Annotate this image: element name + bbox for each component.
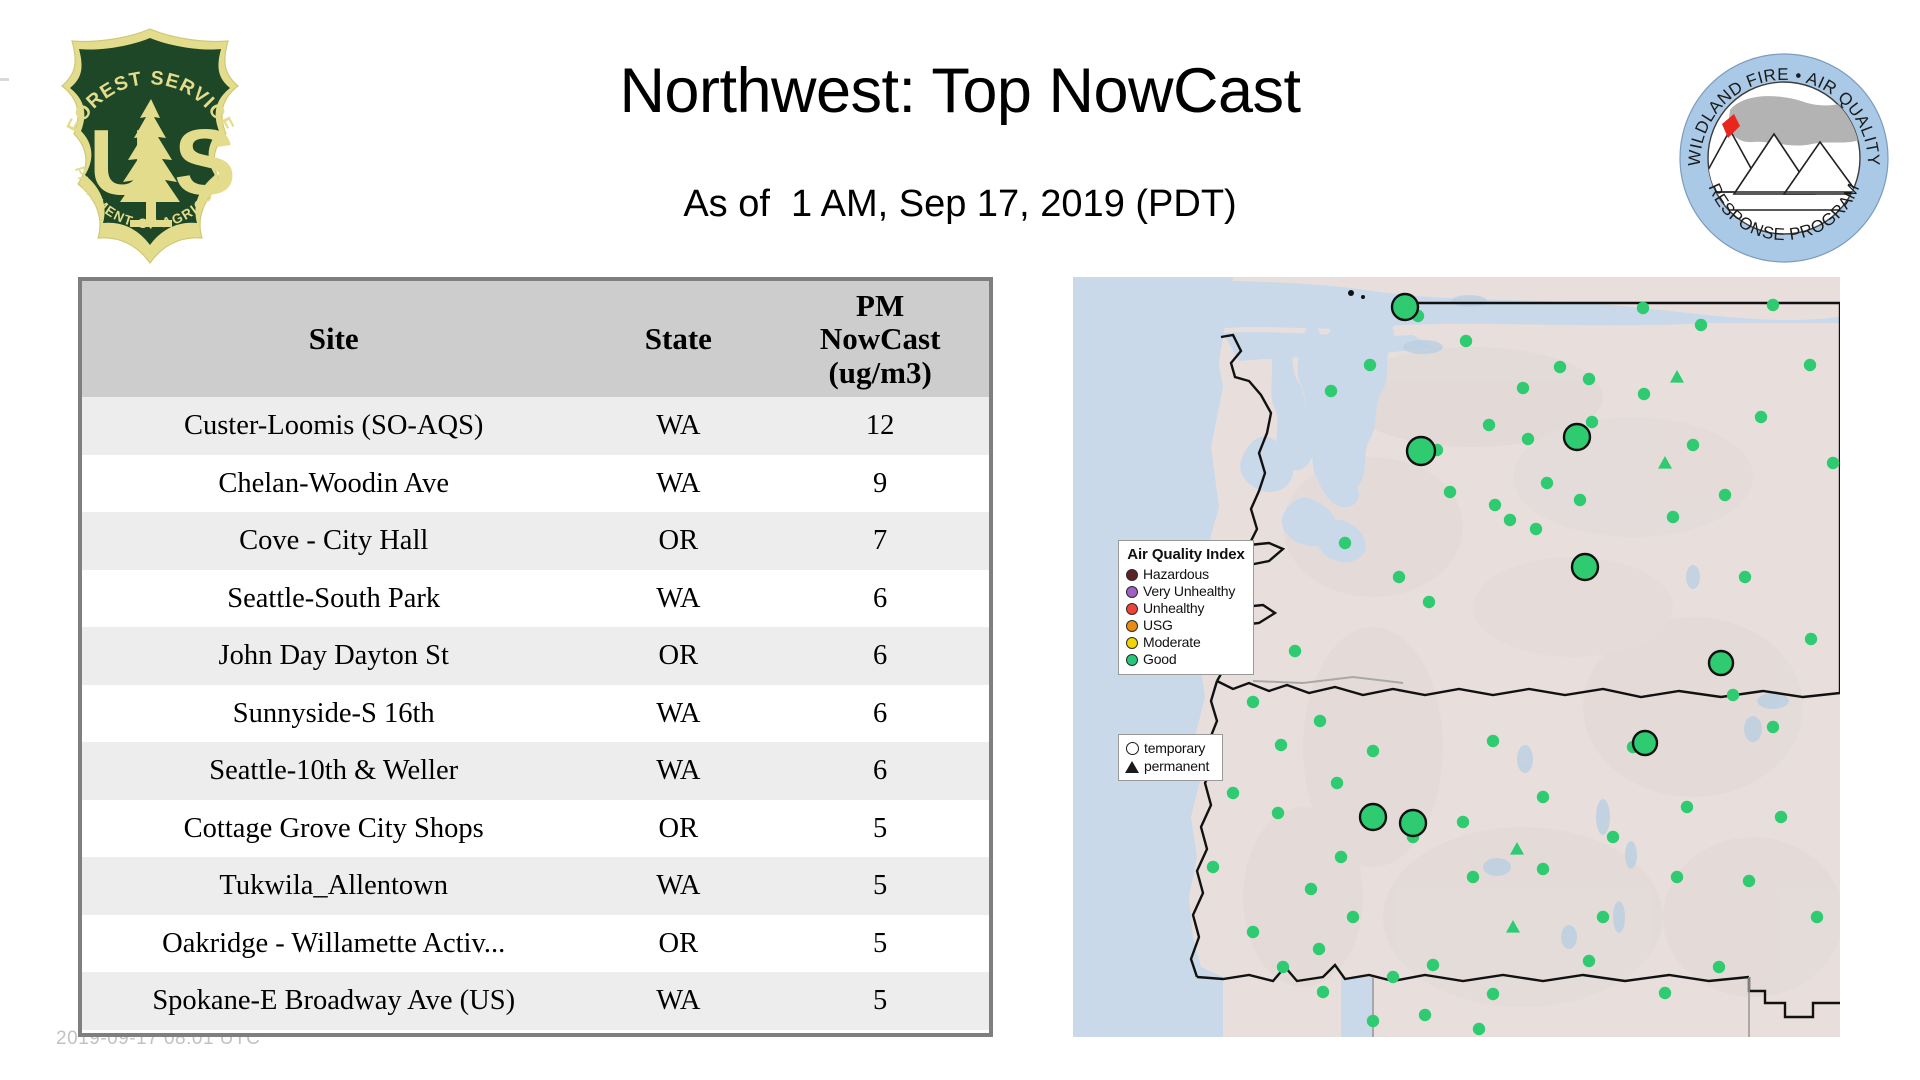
monitor-dot[interactable] bbox=[1207, 861, 1219, 873]
cell-state: WA bbox=[585, 857, 771, 915]
legend-label-temporary: temporary bbox=[1144, 740, 1205, 756]
monitor-dot[interactable] bbox=[1767, 721, 1779, 733]
monitor-dot[interactable] bbox=[1367, 1015, 1379, 1027]
top-nowcast-site-marker[interactable] bbox=[1392, 294, 1418, 320]
legend-item-label: Very Unhealthy bbox=[1143, 583, 1235, 600]
monitor-dot[interactable] bbox=[1687, 439, 1699, 451]
table-header-row: Site State PM NowCast (ug/m3) bbox=[82, 281, 989, 397]
monitor-dot[interactable] bbox=[1522, 433, 1534, 445]
table-row: Cottage Grove City ShopsOR5 bbox=[82, 800, 989, 858]
monitor-dot[interactable] bbox=[1473, 1023, 1485, 1035]
monitor-dot[interactable] bbox=[1289, 645, 1301, 657]
legend-swatch-icon bbox=[1126, 586, 1138, 598]
table-row: Cove - City HallOR7 bbox=[82, 512, 989, 570]
column-header-pm-line2: NowCast bbox=[775, 322, 985, 355]
monitor-dot[interactable] bbox=[1460, 335, 1472, 347]
monitor-dot[interactable] bbox=[1637, 302, 1649, 314]
monitor-dot[interactable] bbox=[1739, 571, 1751, 583]
monitor-dot[interactable] bbox=[1805, 633, 1817, 645]
monitor-dot[interactable] bbox=[1364, 359, 1376, 371]
cell-state: WA bbox=[585, 455, 771, 513]
cell-site: Chelan-Woodin Ave bbox=[82, 455, 585, 513]
monitor-dot[interactable] bbox=[1713, 961, 1725, 973]
monitor-dot[interactable] bbox=[1586, 416, 1598, 428]
column-header-state: State bbox=[585, 281, 771, 397]
table-row: Seattle-South ParkWA6 bbox=[82, 570, 989, 628]
monitor-dot[interactable] bbox=[1574, 494, 1586, 506]
monitor-dot[interactable] bbox=[1483, 419, 1495, 431]
monitor-dot[interactable] bbox=[1247, 926, 1259, 938]
monitor-dot[interactable] bbox=[1487, 988, 1499, 1000]
monitor-dot[interactable] bbox=[1367, 745, 1379, 757]
table-row: Sunnyside-S 16thWA6 bbox=[82, 685, 989, 743]
legend-item-label: USG bbox=[1143, 617, 1173, 634]
cell-state: WA bbox=[585, 570, 771, 628]
fs-letter-s: S bbox=[174, 110, 236, 214]
page-subtitle: As of 1 AM, Sep 17, 2019 (PDT) bbox=[300, 184, 1620, 226]
cell-site: Seattle-10th & Weller bbox=[82, 742, 585, 800]
top-nowcast-site-marker[interactable] bbox=[1564, 424, 1590, 450]
cell-pm-nowcast: 9 bbox=[771, 455, 989, 513]
usda-forest-service-shield-logo: FOREST SERVICE DEPARTMENT OF AGRICULTURE… bbox=[48, 22, 253, 270]
column-header-site-label: Site bbox=[309, 321, 359, 356]
monitor-dot[interactable] bbox=[1541, 477, 1553, 489]
table-row: Seattle-10th & WellerWA6 bbox=[82, 742, 989, 800]
cell-state: WA bbox=[585, 685, 771, 743]
cell-state: OR bbox=[585, 627, 771, 685]
legend-item-label: Moderate bbox=[1143, 634, 1201, 651]
monitor-dot[interactable] bbox=[1275, 739, 1287, 751]
monitor-dot[interactable] bbox=[1671, 871, 1683, 883]
monitor-dot[interactable] bbox=[1504, 514, 1516, 526]
monitor-dot[interactable] bbox=[1517, 382, 1529, 394]
monitor-dot[interactable] bbox=[1755, 411, 1767, 423]
permanent-monitor-icon bbox=[1125, 760, 1139, 773]
monitor-dot[interactable] bbox=[1804, 359, 1816, 371]
monitor-dot[interactable] bbox=[1335, 851, 1347, 863]
monitor-dot[interactable] bbox=[1607, 831, 1619, 843]
cell-state: OR bbox=[585, 512, 771, 570]
cell-state: WA bbox=[585, 742, 771, 800]
monitor-dot[interactable] bbox=[1727, 689, 1739, 701]
monitor-dot[interactable] bbox=[1247, 696, 1259, 708]
cell-pm-nowcast: 6 bbox=[771, 685, 989, 743]
monitor-dot[interactable] bbox=[1423, 596, 1435, 608]
monitor-dot[interactable] bbox=[1583, 373, 1595, 385]
slide-canvas: FOREST SERVICE DEPARTMENT OF AGRICULTURE… bbox=[0, 0, 1920, 1080]
legend-swatch-icon bbox=[1126, 603, 1138, 615]
legend-title: Air Quality Index bbox=[1126, 546, 1246, 563]
monitor-dot[interactable] bbox=[1317, 986, 1329, 998]
cell-site: Seattle-South Park bbox=[82, 570, 585, 628]
air-quality-index-legend: Air Quality Index HazardousVery Unhealth… bbox=[1118, 540, 1254, 675]
nowcast-table: Site State PM NowCast (ug/m3) Custer-Loo… bbox=[82, 281, 989, 1030]
monitor-dot[interactable] bbox=[1695, 319, 1707, 331]
cell-pm-nowcast: 5 bbox=[771, 915, 989, 973]
table-body: Custer-Loomis (SO-AQS)WA12Chelan-Woodin … bbox=[82, 397, 989, 1030]
cell-site: John Day Dayton St bbox=[82, 627, 585, 685]
top-nowcast-site-marker[interactable] bbox=[1360, 804, 1386, 830]
legend-item: USG bbox=[1126, 617, 1246, 634]
legend-label-permanent: permanent bbox=[1144, 758, 1209, 774]
column-header-site: Site bbox=[82, 281, 585, 397]
page-title: Northwest: Top NowCast bbox=[300, 58, 1620, 124]
legend-swatch-icon bbox=[1126, 620, 1138, 632]
cell-site: Spokane-E Broadway Ave (US) bbox=[82, 972, 585, 1030]
cell-site: Tukwila_Allentown bbox=[82, 857, 585, 915]
legend-item-label: Good bbox=[1143, 651, 1176, 668]
monitor-dot[interactable] bbox=[1393, 571, 1405, 583]
monitor-dot[interactable] bbox=[1827, 457, 1839, 469]
cell-site: Oakridge - Willamette Activ... bbox=[82, 915, 585, 973]
monitor-dot[interactable] bbox=[1659, 987, 1671, 999]
monitor-dot[interactable] bbox=[1667, 511, 1679, 523]
monitor-dot[interactable] bbox=[1681, 801, 1693, 813]
monitor-dot[interactable] bbox=[1444, 486, 1456, 498]
monitor-dot[interactable] bbox=[1347, 911, 1359, 923]
column-header-state-label: State bbox=[645, 321, 712, 356]
top-nowcast-site-marker[interactable] bbox=[1407, 437, 1435, 465]
legend-swatch-icon bbox=[1126, 637, 1138, 649]
cell-site: Sunnyside-S 16th bbox=[82, 685, 585, 743]
monitor-dot[interactable] bbox=[1427, 959, 1439, 971]
cell-pm-nowcast: 5 bbox=[771, 857, 989, 915]
legend-item-label: Hazardous bbox=[1143, 566, 1209, 583]
legend-item: Very Unhealthy bbox=[1126, 583, 1246, 600]
table-row: Oakridge - Willamette Activ...OR5 bbox=[82, 915, 989, 973]
cell-state: OR bbox=[585, 915, 771, 973]
cell-state: WA bbox=[585, 972, 771, 1030]
legend-item-label: Unhealthy bbox=[1143, 600, 1204, 617]
table-row: Chelan-Woodin AveWA9 bbox=[82, 455, 989, 513]
monitor-dot[interactable] bbox=[1638, 388, 1650, 400]
temporary-monitor-icon bbox=[1125, 742, 1139, 755]
wildland-fire-air-quality-response-program-logo: WILDLAND FIRE • AIR QUALITY RESPONSE PRO… bbox=[1678, 52, 1890, 264]
monitor-dot[interactable] bbox=[1767, 299, 1779, 311]
legend-item: Unhealthy bbox=[1126, 600, 1246, 617]
legend-swatch-icon bbox=[1126, 654, 1138, 666]
table-row: Custer-Loomis (SO-AQS)WA12 bbox=[82, 397, 989, 455]
monitor-dot[interactable] bbox=[1305, 883, 1317, 895]
cell-pm-nowcast: 5 bbox=[771, 972, 989, 1030]
column-header-pm-line3: (ug/m3) bbox=[775, 356, 985, 389]
monitor-dot[interactable] bbox=[1339, 537, 1351, 549]
nowcast-table-container: Site State PM NowCast (ug/m3) Custer-Loo… bbox=[78, 277, 993, 1037]
top-nowcast-site-marker[interactable] bbox=[1572, 554, 1598, 580]
monitor-dot[interactable] bbox=[1227, 787, 1239, 799]
monitor-dot[interactable] bbox=[1489, 499, 1501, 511]
legend-item: Moderate bbox=[1126, 634, 1246, 651]
cell-pm-nowcast: 7 bbox=[771, 512, 989, 570]
top-nowcast-site-marker[interactable] bbox=[1709, 651, 1733, 675]
monitor-dot[interactable] bbox=[1272, 807, 1284, 819]
cell-pm-nowcast: 6 bbox=[771, 570, 989, 628]
legend-item: Hazardous bbox=[1126, 566, 1246, 583]
legend-rows: HazardousVery UnhealthyUnhealthyUSGModer… bbox=[1126, 566, 1246, 668]
monitor-dot[interactable] bbox=[1554, 361, 1566, 373]
cell-pm-nowcast: 5 bbox=[771, 800, 989, 858]
table-row: John Day Dayton StOR6 bbox=[82, 627, 989, 685]
monitor-dot[interactable] bbox=[1325, 385, 1337, 397]
monitor-dot[interactable] bbox=[1331, 777, 1343, 789]
monitor-dot[interactable] bbox=[1457, 816, 1469, 828]
column-header-pm-nowcast: PM NowCast (ug/m3) bbox=[771, 281, 989, 397]
legend-row-temporary: temporary bbox=[1125, 739, 1217, 757]
cell-pm-nowcast: 6 bbox=[771, 742, 989, 800]
monitor-dot[interactable] bbox=[1743, 875, 1755, 887]
monitor-type-legend: temporary permanent bbox=[1118, 734, 1223, 781]
column-header-pm-line1: PM bbox=[775, 289, 985, 322]
cell-state: OR bbox=[585, 800, 771, 858]
monitor-dot[interactable] bbox=[1775, 811, 1787, 823]
legend-item: Good bbox=[1126, 651, 1246, 668]
cell-site: Cottage Grove City Shops bbox=[82, 800, 585, 858]
cell-pm-nowcast: 12 bbox=[771, 397, 989, 455]
left-edge-marker bbox=[0, 78, 9, 81]
cell-pm-nowcast: 6 bbox=[771, 627, 989, 685]
cell-site: Custer-Loomis (SO-AQS) bbox=[82, 397, 585, 455]
top-nowcast-site-marker[interactable] bbox=[1400, 810, 1426, 836]
monitor-dot[interactable] bbox=[1487, 735, 1499, 747]
cell-site: Cove - City Hall bbox=[82, 512, 585, 570]
monitor-dot[interactable] bbox=[1387, 971, 1399, 983]
monitor-dot[interactable] bbox=[1811, 911, 1823, 923]
monitor-dot[interactable] bbox=[1314, 715, 1326, 727]
monitor-dot[interactable] bbox=[1537, 863, 1549, 875]
monitor-dot[interactable] bbox=[1419, 1009, 1431, 1021]
monitor-dot[interactable] bbox=[1719, 489, 1731, 501]
table-row: Tukwila_AllentownWA5 bbox=[82, 857, 989, 915]
monitor-dot[interactable] bbox=[1583, 955, 1595, 967]
top-nowcast-site-marker[interactable] bbox=[1633, 731, 1657, 755]
monitor-dot[interactable] bbox=[1597, 911, 1609, 923]
cell-state: WA bbox=[585, 397, 771, 455]
monitor-dot[interactable] bbox=[1530, 523, 1542, 535]
legend-row-permanent: permanent bbox=[1125, 757, 1217, 775]
legend-swatch-icon bbox=[1126, 569, 1138, 581]
monitor-dot[interactable] bbox=[1537, 791, 1549, 803]
monitor-dot[interactable] bbox=[1467, 871, 1479, 883]
monitor-dot[interactable] bbox=[1277, 961, 1289, 973]
monitor-dot[interactable] bbox=[1313, 943, 1325, 955]
table-row: Spokane-E Broadway Ave (US)WA5 bbox=[82, 972, 989, 1030]
